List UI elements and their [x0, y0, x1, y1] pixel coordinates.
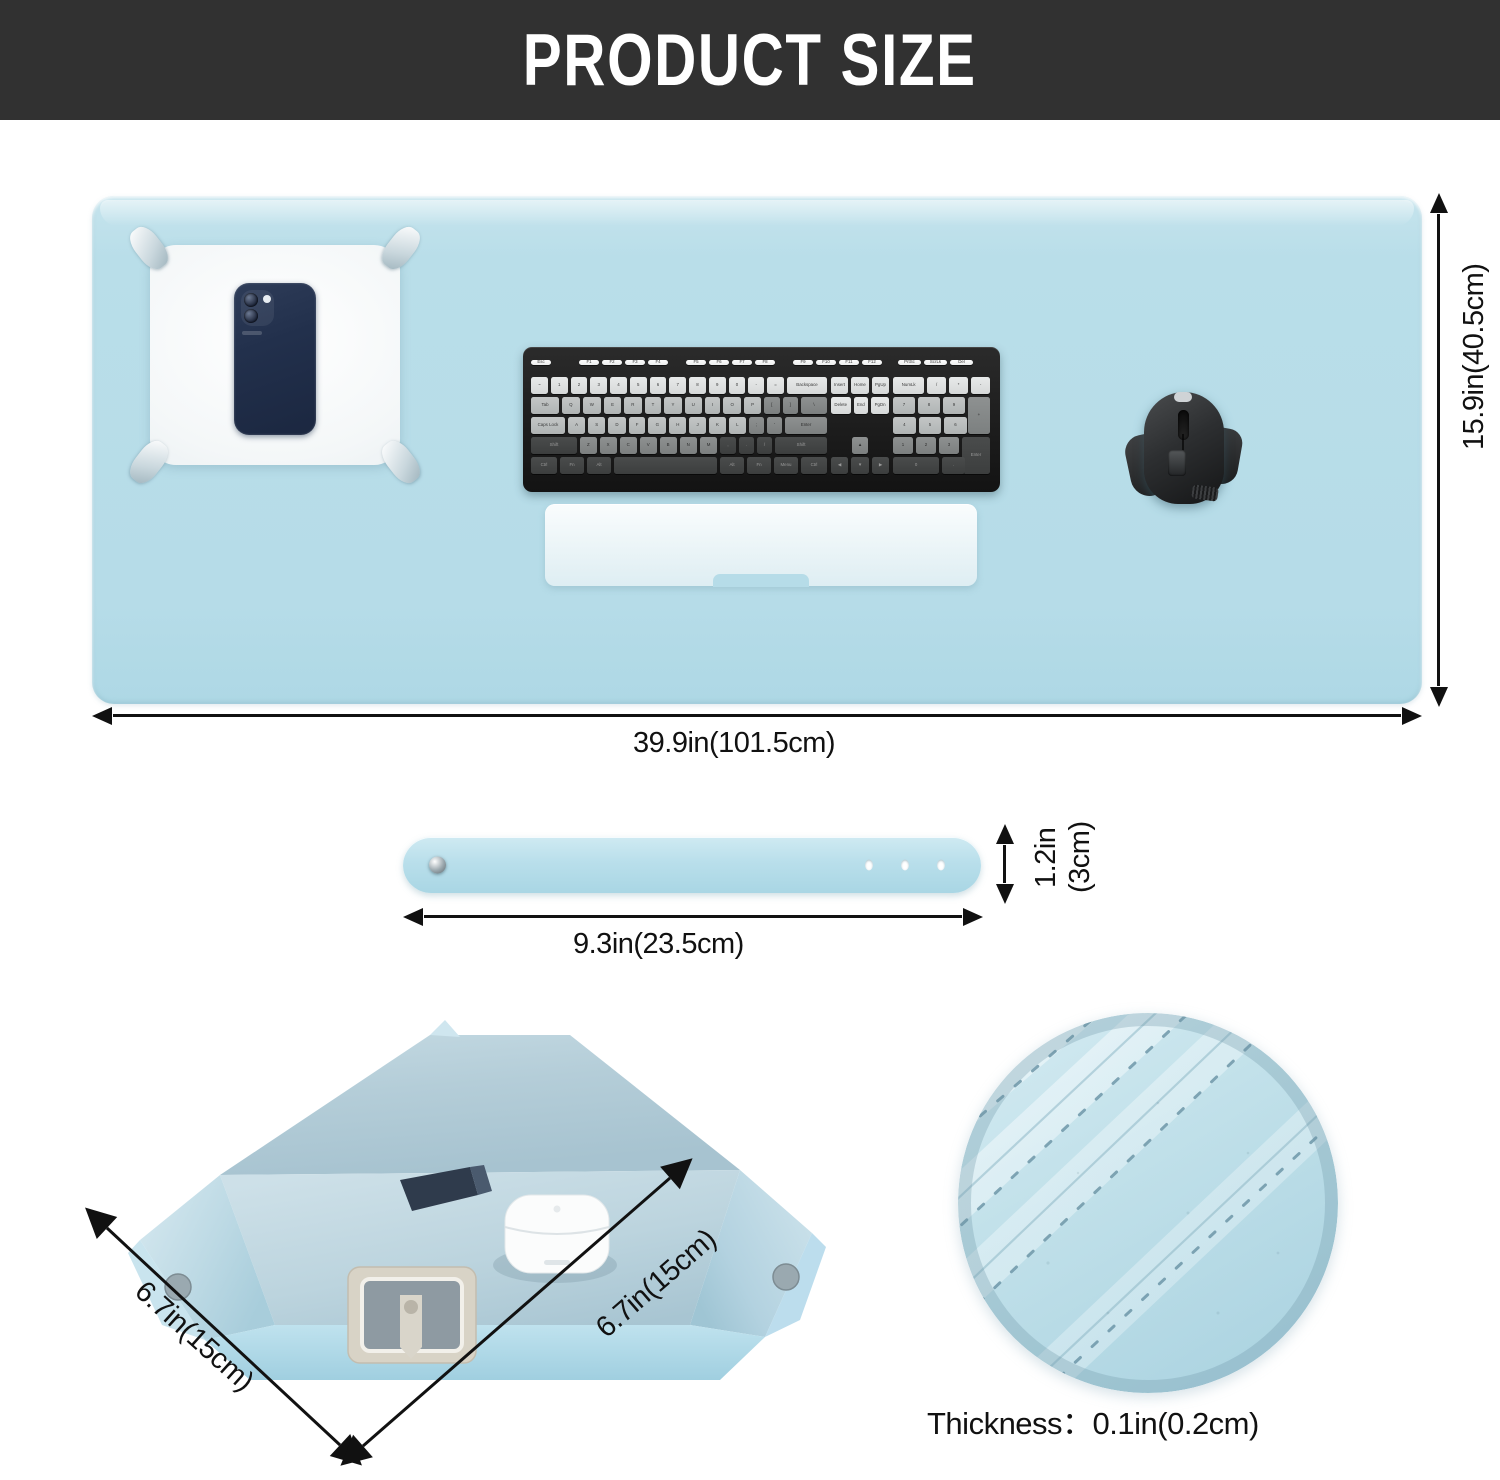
key-tab: Tab [531, 397, 559, 414]
key-e: E [604, 397, 621, 414]
key-semicolon: ; [749, 417, 764, 434]
key-numpad-divide: / [927, 377, 946, 394]
key-pagedown: PgDn [871, 397, 889, 414]
key-backslash: \ [801, 397, 827, 414]
keyboard-function-row: Esc F1 F2 F3 F4 F5 F6 F7 F8 F9 F10 F11 F… [531, 354, 992, 371]
strap-height-arrow [1003, 845, 1006, 883]
desk-mat: Esc F1 F2 F3 F4 F5 F6 F7 F8 F9 F10 F11 F… [92, 196, 1422, 704]
key-pageup: PgUp [872, 377, 889, 394]
key-7: 7 [669, 377, 686, 394]
mat-height-label: 15.9in(40.5cm) [1458, 264, 1491, 450]
cable-strap [403, 837, 981, 893]
key-m: M [700, 437, 718, 454]
key-backtick: ~ [531, 377, 548, 394]
gaming-mouse [1128, 388, 1240, 510]
key-numlock: NumLk [893, 377, 924, 394]
key-esc: Esc [531, 360, 551, 364]
key-arrow-up-icon: ▲ [852, 437, 868, 454]
strap-length-arrow [424, 915, 962, 918]
tray-corner-snap-bottom-left [125, 436, 174, 488]
key-y: Y [664, 397, 681, 414]
strap-hole [865, 860, 873, 871]
key-alt-right: Alt [720, 457, 744, 474]
strap-height-label-line1: 1.2in [1030, 828, 1063, 888]
key-numpad-5: 5 [919, 417, 942, 434]
key-2: 2 [571, 377, 588, 394]
keyboard-number-row: ~ 1 2 3 4 5 6 7 8 9 0 - = Backspace [531, 377, 827, 394]
key-ctrl-right: Ctrl [801, 457, 827, 474]
key-bracket-left: [ [764, 397, 779, 414]
phone-detail-bar [242, 331, 262, 335]
key-f5: F5 [686, 360, 706, 364]
keyboard-main-area: ~ 1 2 3 4 5 6 7 8 9 0 - = Backspace Tab [531, 377, 992, 477]
key-minus: - [748, 377, 764, 394]
key-d: D [608, 417, 625, 434]
key-comma: , [720, 437, 735, 454]
key-numpad-7: 7 [893, 397, 915, 414]
keyboard-qwerty-row: Tab Q W E R T Y U I O P [ ] \ [531, 397, 827, 414]
key-f3: F3 [625, 360, 645, 364]
key-shift-right: Shift [775, 437, 827, 454]
key-z: Z [580, 437, 597, 454]
key-numpad-multiply: * [949, 377, 968, 394]
strap-hole [937, 860, 945, 871]
title-banner: PRODUCT SIZE [0, 0, 1500, 120]
key-capslock: Caps Lock [531, 417, 565, 434]
tray-dimension-arrows [85, 1150, 845, 1480]
key-h: H [669, 417, 686, 434]
key-8: 8 [689, 377, 706, 394]
key-f9: F9 [793, 360, 813, 364]
keyboard: Esc F1 F2 F3 F4 F5 F6 F7 F8 F9 F10 F11 F… [523, 347, 1000, 492]
keyboard-home-row: Caps Lock A S D F G H J K L ; ' Enter [531, 417, 827, 434]
key-numpad-1: 1 [893, 437, 913, 454]
key-f11: F11 [839, 360, 859, 364]
key-fn-right: Fn [747, 457, 771, 474]
key-insert: Insert [831, 377, 848, 394]
strap-length-label: 9.3in(23.5cm) [573, 928, 744, 961]
keyboard-bottom-row: Ctrl Fn Alt Alt Fn Menu Ctrl [531, 457, 827, 474]
key-q: Q [562, 397, 580, 414]
key-arrow-down-icon: ▼ [851, 457, 869, 474]
keyboard-shift-row: Shift Z X C V B N M , . / Shift [531, 437, 827, 454]
key-ctrl-left: Ctrl [531, 457, 557, 474]
mouse-side-buttons [1168, 450, 1186, 476]
key-home: Home [851, 377, 869, 394]
key-slash: / [757, 437, 772, 454]
key-numpad-8: 8 [918, 397, 940, 414]
strap-snap-button [429, 857, 446, 874]
mat-width-arrow [113, 714, 1401, 717]
key-6: 6 [650, 377, 667, 394]
key-f10: F10 [816, 360, 836, 364]
tray-corner-snap-top-left [125, 222, 174, 274]
key-a: A [568, 417, 585, 434]
key-numpad-decimal: . [942, 457, 965, 474]
mat-valet-tray [150, 245, 400, 465]
leather-texture-illustration [958, 1013, 1338, 1393]
key-f1: F1 [579, 360, 599, 364]
key-space [614, 457, 717, 474]
camera-lens-icon [244, 309, 258, 323]
key-numpad-9: 9 [943, 397, 965, 414]
key-5: 5 [630, 377, 647, 394]
key-f2: F2 [602, 360, 622, 364]
key-v: V [640, 437, 657, 454]
page-title: PRODUCT SIZE [523, 19, 977, 102]
key-period: . [739, 437, 754, 454]
key-9: 9 [709, 377, 726, 394]
key-f4: F4 [648, 360, 668, 364]
tray-corner-snap-bottom-right [377, 436, 426, 488]
camera-flash-icon [263, 295, 271, 303]
key-delete: Del [950, 360, 973, 364]
key-b: B [660, 437, 677, 454]
key-u: U [685, 397, 702, 414]
mouse-front-tip [1174, 392, 1192, 402]
key-o: O [723, 397, 741, 414]
key-printscreen: PrtSc [898, 360, 921, 364]
key-j: J [689, 417, 705, 434]
tray-corner-snap-top-right [377, 222, 426, 274]
key-enter: Enter [785, 417, 827, 434]
key-3: 3 [590, 377, 607, 394]
key-bracket-right: ] [783, 397, 798, 414]
key-g: G [648, 417, 666, 434]
key-i: I [705, 397, 720, 414]
key-4: 4 [610, 377, 627, 394]
key-f6: F6 [709, 360, 729, 364]
key-arrow-left-icon: ◀ [831, 457, 848, 474]
keyboard-numpad: NumLk / * - 7 8 9 + 4 5 6 [893, 377, 990, 477]
key-numpad-3: 3 [939, 437, 959, 454]
keyboard-alpha-block: ~ 1 2 3 4 5 6 7 8 9 0 - = Backspace Tab [531, 377, 827, 477]
key-alt-left: Alt [587, 457, 611, 474]
key-t: T [645, 397, 662, 414]
thickness-label: Thickness：0.1in(0.2cm) [927, 1398, 1259, 1443]
key-end: End [854, 397, 869, 414]
key-l: L [729, 417, 746, 434]
key-numpad-2: 2 [916, 437, 936, 454]
key-n: N [680, 437, 697, 454]
key-numpad-6: 6 [944, 417, 967, 434]
strap-hole [901, 860, 909, 871]
key-p: P [744, 397, 761, 414]
key-numpad-minus: - [971, 377, 990, 394]
keyboard-nav-cluster: Insert Home PgUp Delete End PgDn ▲ ◀ [831, 377, 889, 477]
key-r: R [624, 397, 641, 414]
key-k: K [709, 417, 726, 434]
phone-camera-module [241, 290, 274, 326]
key-menu: Menu [774, 457, 798, 474]
key-s: S [588, 417, 605, 434]
key-scrolllock: ScrLk [924, 360, 947, 364]
wrist-rest [545, 504, 977, 586]
key-1: 1 [551, 377, 568, 394]
key-f7: F7 [732, 360, 752, 364]
leather-closeup [958, 1013, 1338, 1393]
key-fn-left: Fn [560, 457, 584, 474]
mat-height-arrow [1437, 214, 1440, 686]
key-backspace: Backspace [787, 377, 827, 394]
key-f8: F8 [755, 360, 775, 364]
key-numpad-4: 4 [893, 417, 916, 434]
key-0: 0 [729, 377, 746, 394]
key-x: X [600, 437, 617, 454]
camera-lens-icon [244, 293, 258, 307]
key-arrow-right-icon: ▶ [872, 457, 889, 474]
strap-height-label-line2: (3cm) [1064, 821, 1097, 893]
key-c: C [620, 437, 637, 454]
mat-width-label: 39.9in(101.5cm) [633, 727, 835, 760]
key-f: F [629, 417, 646, 434]
key-quote: ' [767, 417, 782, 434]
key-f12: F12 [862, 360, 882, 364]
key-delete-nav: Delete [831, 397, 851, 414]
key-equal: = [767, 377, 784, 394]
key-numpad-0: 0 [893, 457, 939, 474]
smartphone [234, 283, 316, 435]
key-shift-left: Shift [531, 437, 577, 454]
key-w: W [583, 397, 601, 414]
